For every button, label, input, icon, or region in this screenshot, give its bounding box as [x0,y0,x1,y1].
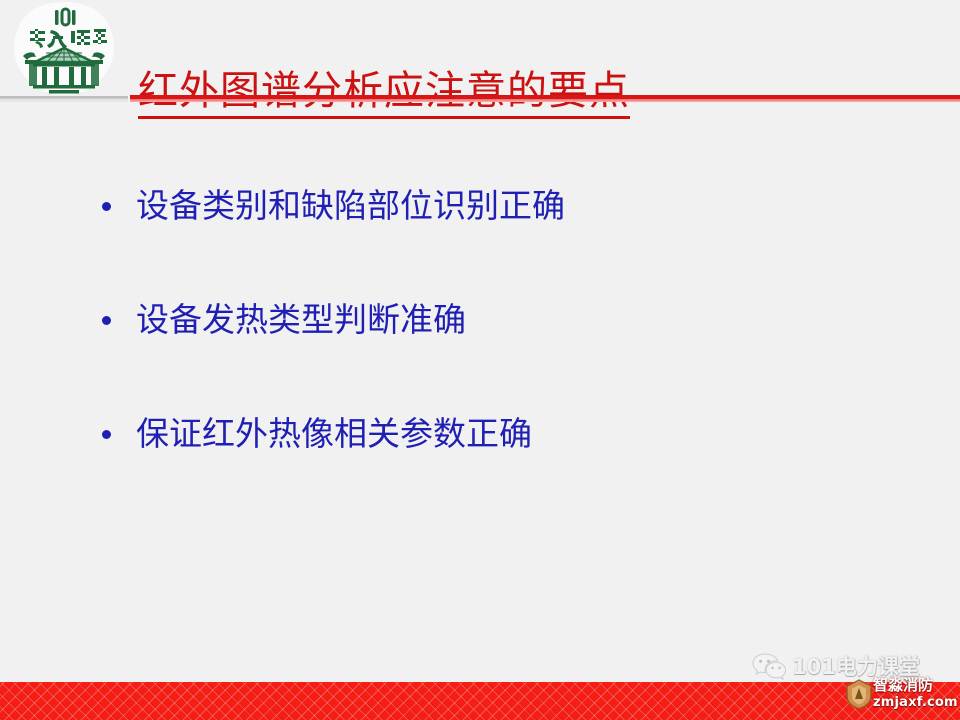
footer-red-band [0,682,960,720]
site-watermark: 智淼消防 zmjaxf.com [845,676,957,716]
site-watermark-url: zmjaxf.com [873,695,958,710]
list-item: 设备类别和缺陷部位识别正确 [96,184,565,228]
bullet-list: 设备类别和缺陷部位识别正确 设备发热类型判断准确 保证红外热像相关参数正确 [96,184,565,456]
zhimiao-shield-icon [845,679,873,709]
bullet-dot-icon [102,430,111,439]
list-item: 设备发热类型判断准确 [96,298,565,342]
wechat-icon [752,652,786,682]
presentation-slide: 红外图谱分析应注意的要点 设备类别和缺陷部位识别正确 设备发热类型判断准确 保证… [0,0,960,720]
header-rule-red [130,95,960,102]
slide-header: 红外图谱分析应注意的要点 [0,0,960,104]
list-item-label: 保证红外热像相关参数正确 [136,414,532,453]
list-item: 保证红外热像相关参数正确 [96,412,565,456]
organization-logo [11,0,117,96]
header-rule-gray [0,96,128,102]
slide-content: 设备类别和缺陷部位识别正确 设备发热类型判断准确 保证红外热像相关参数正确 [0,104,960,664]
list-item-label: 设备类别和缺陷部位识别正确 [136,186,565,225]
bullet-dot-icon [102,316,111,325]
list-item-label: 设备发热类型判断准确 [136,300,466,339]
site-watermark-name: 智淼消防 [873,676,933,694]
bullet-dot-icon [102,202,111,211]
